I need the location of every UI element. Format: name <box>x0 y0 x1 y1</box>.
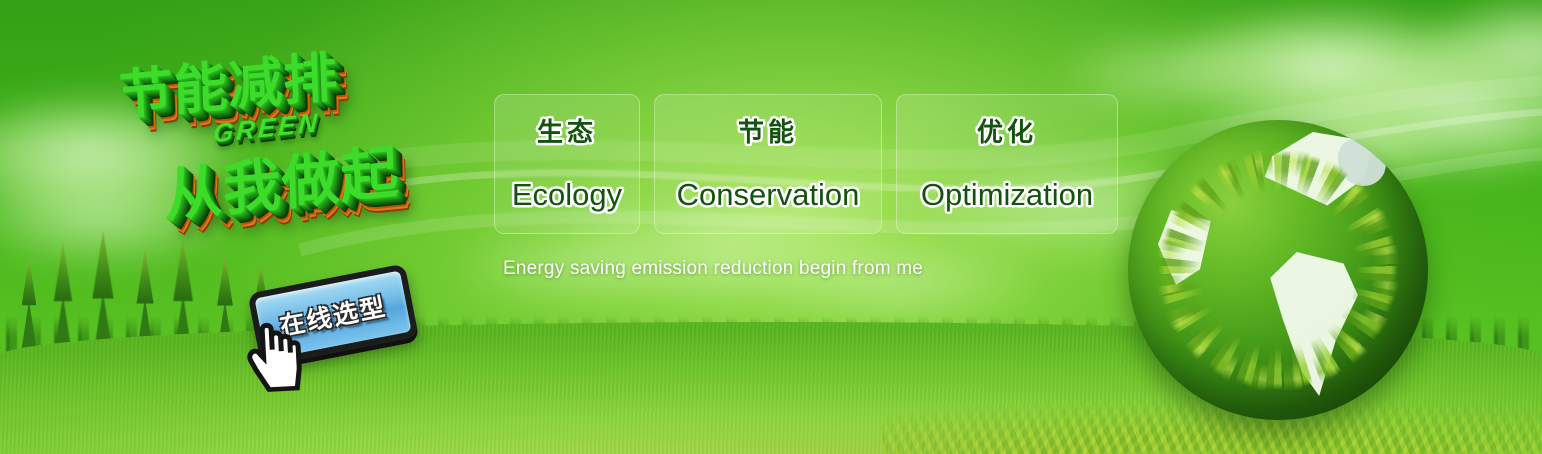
headline-line-2: 从我做起 <box>163 116 486 234</box>
clouds-icon <box>1420 0 1542 96</box>
headline-logo: 节能减排 GREEN 从我做起 <box>98 26 490 276</box>
green-energy-banner: 节能减排 GREEN 从我做起 在线选型 生态 Ecology 节能 Conse… <box>0 0 1542 454</box>
feature-card-optimization-en: Optimization <box>921 179 1093 210</box>
clouds-icon <box>760 236 1040 326</box>
clouds-icon <box>1165 8 1495 126</box>
feature-card-conservation-en: Conservation <box>677 179 860 210</box>
ivy-leaves-icon <box>1112 104 1444 436</box>
feature-card-optimization-cn: 优化 <box>977 119 1037 145</box>
feature-card-ecology-cn: 生态 <box>537 119 597 145</box>
feature-card-optimization[interactable]: 优化 Optimization <box>896 94 1118 234</box>
hand-pointer-icon <box>244 316 312 393</box>
green-leaf-globe-icon <box>1128 120 1428 420</box>
banner-tagline: Energy saving emission reduction begin f… <box>503 258 923 280</box>
feature-card-ecology-en: Ecology <box>512 179 622 210</box>
feature-card-conservation[interactable]: 节能 Conservation <box>654 94 882 234</box>
feature-card-ecology[interactable]: 生态 Ecology <box>494 94 640 234</box>
feature-card-conservation-cn: 节能 <box>738 119 798 145</box>
feature-cards: 生态 Ecology 节能 Conservation 优化 Optimizati… <box>494 94 1118 234</box>
